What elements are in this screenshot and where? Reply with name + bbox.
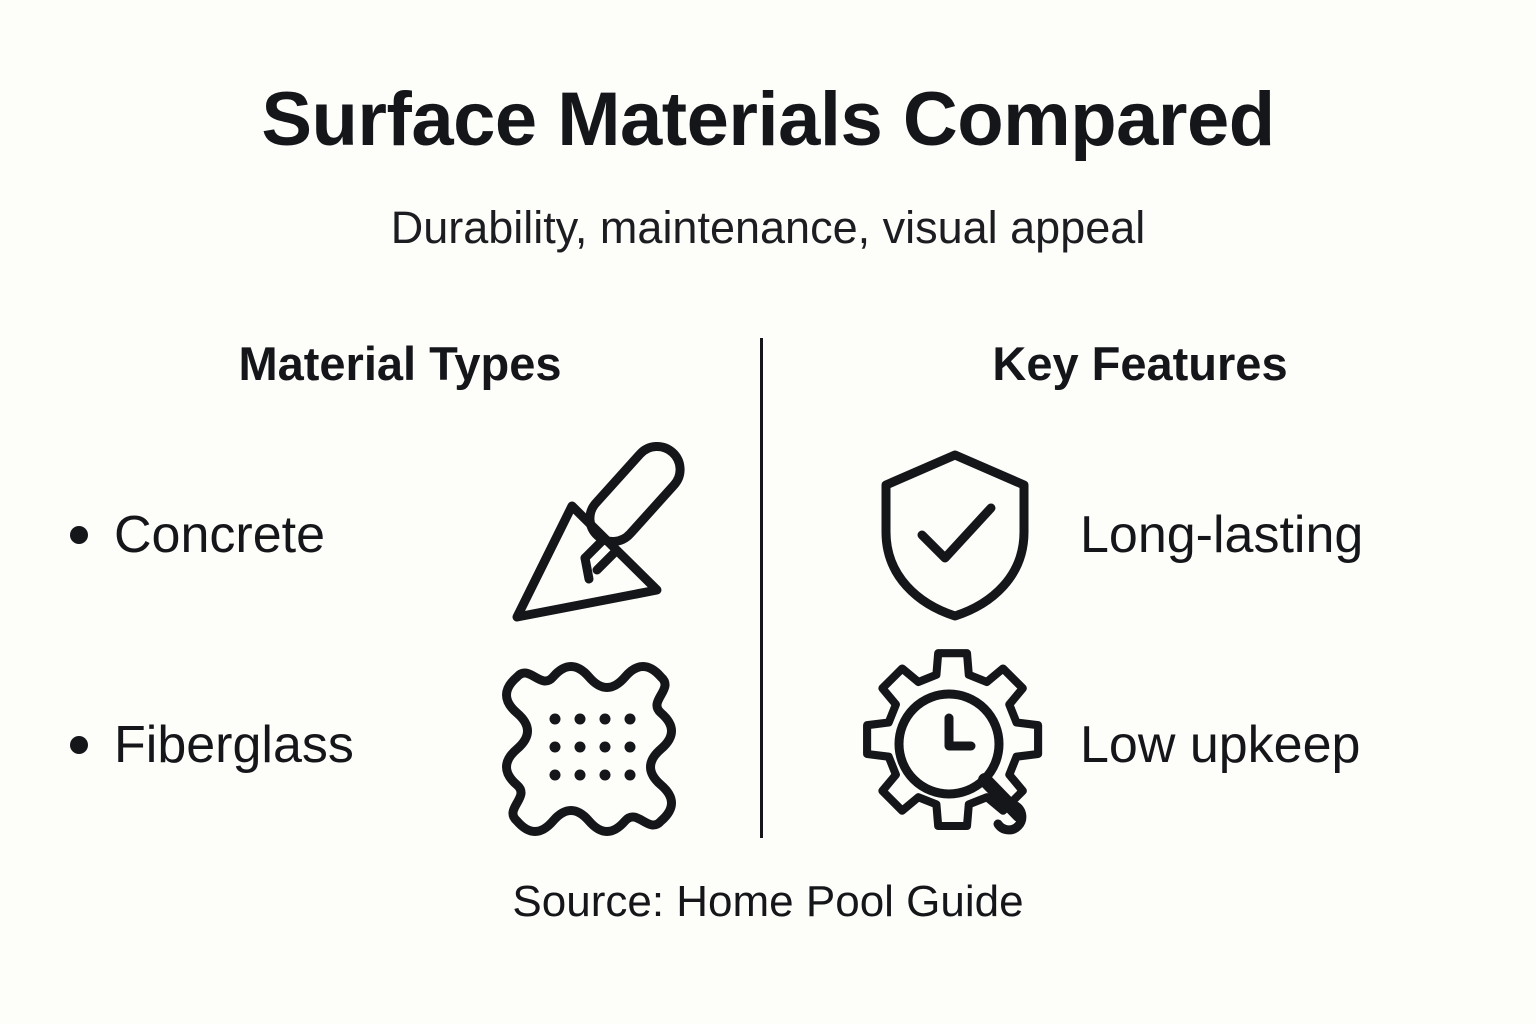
shield-check-icon	[870, 445, 1040, 625]
material-label-group: Concrete	[70, 509, 325, 561]
column-divider	[760, 338, 763, 838]
bullet-icon	[70, 526, 88, 544]
gear-clock-icon	[870, 655, 1040, 835]
page-title: Surface Materials Compared	[0, 82, 1536, 158]
feature-label-long-lasting: Long-lasting	[1080, 509, 1363, 561]
page-subtitle: Durability, maintenance, visual appeal	[0, 205, 1536, 250]
feature-label-low-upkeep: Low upkeep	[1080, 719, 1360, 771]
material-label-concrete: Concrete	[114, 509, 325, 561]
list-item: Fiberglass	[70, 650, 690, 840]
trowel-icon	[490, 440, 690, 630]
right-column-heading: Key Features	[800, 340, 1480, 387]
infographic-canvas: Surface Materials Compared Durability, m…	[0, 0, 1536, 1024]
bullet-icon	[70, 736, 88, 754]
list-item: Low upkeep	[870, 650, 1490, 840]
list-item: Concrete	[70, 440, 690, 630]
material-label-group: Fiberglass	[70, 719, 354, 771]
list-item: Long-lasting	[870, 440, 1490, 630]
left-column-heading: Material Types	[60, 340, 740, 387]
source-caption: Source: Home Pool Guide	[0, 880, 1536, 924]
fiberglass-weave-icon	[490, 650, 690, 840]
material-label-fiberglass: Fiberglass	[114, 719, 354, 771]
